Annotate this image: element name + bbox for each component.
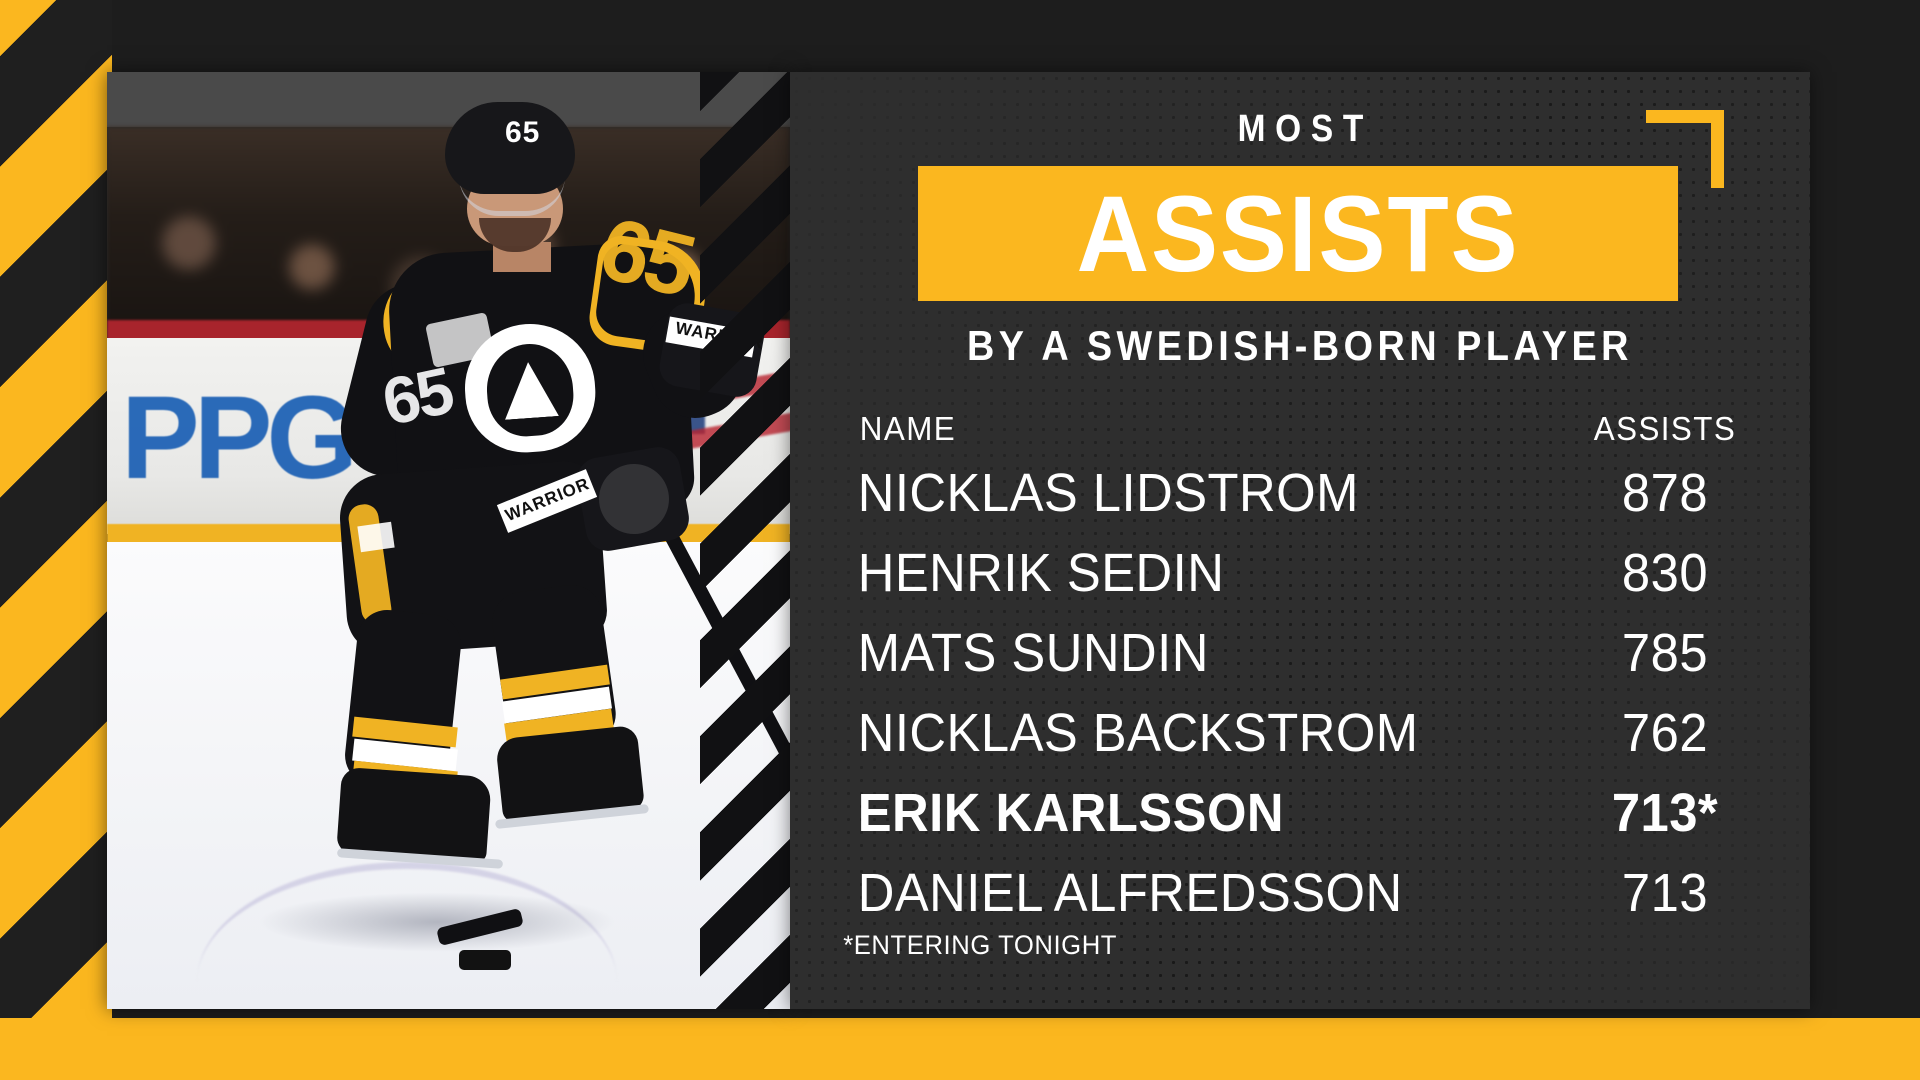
table-row-highlighted: ERIK KARLSSON 713* [790,782,1810,844]
cell-player-name: ERIK KARLSSON [858,782,1539,844]
column-header-name: NAME [854,410,1542,448]
kicker-text: MOST [851,108,1749,151]
cell-player-name: NICKLAS LIDSTROM [858,462,1539,524]
hockey-puck [459,950,511,970]
player-skate-left [336,767,492,863]
pants-stripe-white [357,522,394,552]
table-row: DANIEL ALFREDSSON 713 [790,862,1810,924]
cell-player-name: MATS SUNDIN [858,622,1539,684]
footnote-text: *ENTERING TONIGHT [843,930,1117,961]
cell-player-name: NICKLAS BACKSTROM [858,702,1539,764]
board-ad-ppg: PPG [121,372,311,507]
cell-player-assists: 713 [1566,862,1763,924]
player-photo: PPG 65 65 65 WARRIOR [107,72,790,1009]
table-row: MATS SUNDIN 785 [790,622,1810,684]
cell-player-name: DANIEL ALFREDSSON [858,862,1539,924]
headline-text: ASSISTS [1077,180,1520,288]
cell-player-assists: 830 [1566,542,1763,604]
column-header-assists: ASSISTS [1565,410,1765,448]
headline-highlight-box: ASSISTS [918,166,1678,301]
table-row: HENRIK SEDIN 830 [790,542,1810,604]
table-row: NICKLAS LIDSTROM 878 [790,462,1810,524]
photo-top-band [107,72,790,127]
photo-player-shadow [257,892,617,952]
subheadline-text: BY A SWEDISH-BORN PLAYER [841,322,1759,370]
cell-player-name: HENRIK SEDIN [858,542,1539,604]
player-glove-left-hl [599,464,669,534]
stats-table: NAME ASSISTS NICKLAS LIDSTROM 878 HENRIK… [790,410,1810,942]
frame-bottom-bar [0,1018,1920,1080]
table-row: NICKLAS BACKSTROM 762 [790,702,1810,764]
cell-player-assists: 762 [1566,702,1763,764]
stats-panel: MOST ASSISTS BY A SWEDISH-BORN PLAYER NA… [790,72,1810,1009]
cell-player-assists: 878 [1566,462,1763,524]
table-header-row: NAME ASSISTS [790,410,1810,448]
cell-player-assists: 713* [1566,782,1763,844]
helmet-number: 65 [505,116,540,150]
cell-player-assists: 785 [1566,622,1763,684]
graphic-canvas: PPG 65 65 65 WARRIOR [0,0,1920,1080]
